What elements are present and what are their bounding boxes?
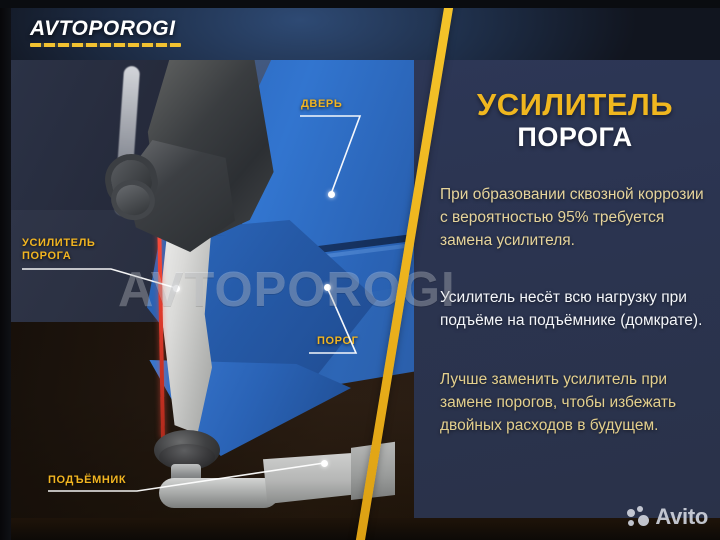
- callout-dot-door: [328, 191, 335, 198]
- panel-title-line-2: ПОРОГА: [440, 122, 710, 152]
- brand-logo: AVTOPOROGI: [30, 17, 181, 47]
- avito-wordmark: Avito: [655, 504, 708, 530]
- promo-banner: ДВЕРЬ УСИЛИТЕЛЬ ПОРОГА ПОРОГ ПОДЪЁМНИК A…: [0, 0, 720, 540]
- frame-top-edge: [0, 0, 720, 8]
- panel-title-line-1: УСИЛИТЕЛЬ: [440, 88, 710, 122]
- info-paragraph-2: Усилитель несёт всю нагрузку при подъёме…: [440, 286, 710, 332]
- info-panel: УСИЛИТЕЛЬ ПОРОГА При образовании сквозно…: [414, 60, 720, 518]
- info-paragraph-1: При образовании сквозной коррозии с веро…: [440, 183, 710, 252]
- avito-dots-icon: [627, 506, 650, 528]
- info-paragraph-3: Лучше заменить усилитель при замене поро…: [440, 368, 710, 437]
- brand-logo-text: AVTOPOROGI: [30, 17, 181, 41]
- callout-dot-lift: [321, 460, 328, 467]
- callout-label-sill: ПОРОГ: [317, 335, 358, 348]
- callout-label-reinforcement: УСИЛИТЕЛЬ ПОРОГА: [22, 237, 95, 263]
- brand-logo-underline: [30, 43, 181, 47]
- callout-label-lift: ПОДЪЁМНИК: [48, 474, 126, 487]
- frame-left-edge: [0, 0, 11, 540]
- avito-watermark: Avito: [627, 504, 708, 530]
- lift-arm-graphic: [159, 478, 279, 508]
- callout-label-door: ДВЕРЬ: [301, 98, 342, 111]
